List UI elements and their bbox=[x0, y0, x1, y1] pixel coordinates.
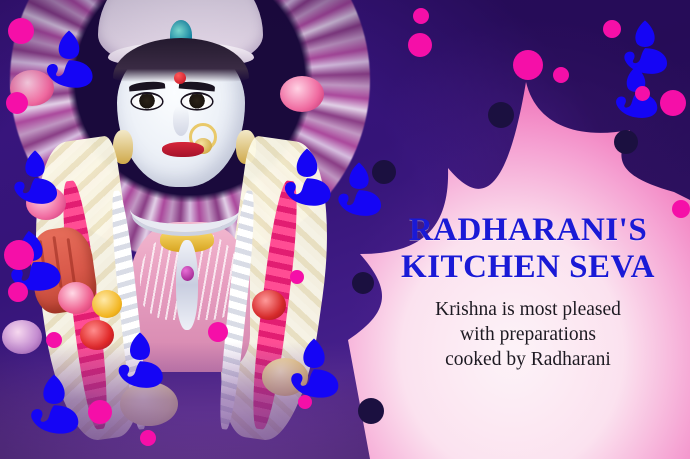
confetti-dot bbox=[208, 322, 228, 342]
confetti-dot bbox=[488, 102, 514, 128]
lotus-motif bbox=[276, 146, 338, 208]
confetti-dot bbox=[88, 400, 112, 424]
subtitle-line1: Krishna is most pleased bbox=[378, 298, 678, 323]
confetti-dot bbox=[358, 398, 384, 424]
lotus-motif bbox=[282, 336, 346, 400]
confetti-dot bbox=[660, 90, 686, 116]
confetti-dot bbox=[372, 160, 396, 184]
confetti-dot bbox=[352, 272, 374, 294]
poster-canvas: RADHARANI'S KITCHEN SEVA Krishna is most… bbox=[0, 0, 690, 459]
subtitle-line2: with preparations bbox=[378, 323, 678, 348]
confetti-dot bbox=[290, 270, 304, 284]
confetti-dot bbox=[603, 20, 621, 38]
confetti-dot bbox=[4, 240, 34, 270]
confetti-dot bbox=[413, 8, 429, 24]
page-title-line1: RADHARANI'S bbox=[378, 212, 678, 249]
confetti-dot bbox=[635, 86, 650, 101]
confetti-dot bbox=[553, 67, 569, 83]
confetti-dot bbox=[298, 395, 312, 409]
lotus-motif bbox=[22, 372, 86, 436]
confetti-dot bbox=[513, 50, 543, 80]
confetti-dot bbox=[8, 282, 28, 302]
confetti-dot bbox=[408, 33, 432, 57]
lotus-motif bbox=[38, 28, 100, 90]
confetti-dot bbox=[614, 130, 638, 154]
subtitle: Krishna is most pleased with preparation… bbox=[378, 298, 678, 373]
subtitle-line3: cooked by Radharani bbox=[378, 348, 678, 373]
page-title-line2: KITCHEN SEVA bbox=[378, 249, 678, 286]
confetti-dot bbox=[46, 332, 62, 348]
confetti-dot bbox=[6, 92, 28, 114]
confetti-dot bbox=[140, 430, 156, 446]
lotus-motif bbox=[6, 148, 64, 206]
text-block: RADHARANI'S KITCHEN SEVA Krishna is most… bbox=[378, 212, 678, 373]
confetti-dot bbox=[8, 18, 34, 44]
lotus-motif bbox=[110, 330, 170, 390]
